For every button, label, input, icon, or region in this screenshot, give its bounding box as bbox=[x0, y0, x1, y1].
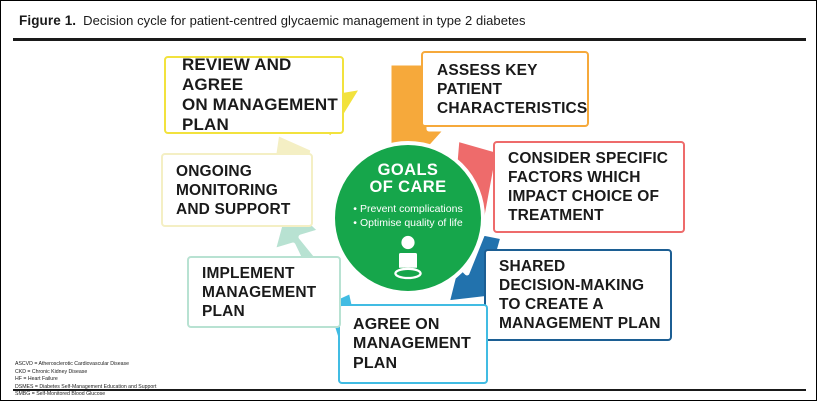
goals-of-care-circle: GOALS OF CARE •Prevent complications •Op… bbox=[331, 141, 485, 295]
goals-title: GOALS OF CARE bbox=[335, 145, 481, 196]
person-icon bbox=[391, 234, 425, 280]
box-consider-specific-factors[interactable]: CONSIDER SPECIFIC FACTORS WHICH IMPACT C… bbox=[493, 141, 685, 233]
box-shared-decision-making[interactable]: SHARED DECISION-MAKING TO CREATE A MANAG… bbox=[484, 249, 672, 341]
figure-number: Figure 1. bbox=[19, 13, 76, 28]
abbreviation-line: DSMES = Diabetes Self-Management Educati… bbox=[15, 384, 255, 392]
box-label: CONSIDER SPECIFIC FACTORS WHICH IMPACT C… bbox=[508, 149, 668, 225]
goals-bullet-text: Prevent complications bbox=[360, 203, 463, 215]
box-ongoing-monitoring-and-support[interactable]: ONGOING MONITORING AND SUPPORT bbox=[161, 153, 313, 227]
goals-bullet-item: •Optimise quality of life bbox=[353, 217, 462, 231]
goals-bullets: •Prevent complications •Optimise quality… bbox=[353, 203, 462, 230]
figure-header: Figure 1.Decision cycle for patient-cent… bbox=[1, 1, 817, 39]
box-label: REVIEW AND AGREE ON MANAGEMENT PLAN bbox=[182, 55, 342, 135]
bullet-dot-icon: • bbox=[353, 203, 357, 215]
abbreviation-line: HF = Heart Failure bbox=[15, 376, 255, 384]
abbreviation-line: ASCVD = Atherosclerotic Cardiovascular D… bbox=[15, 361, 255, 369]
decision-cycle-diagram: GOALS OF CARE •Prevent complications •Op… bbox=[1, 41, 817, 389]
box-label: AGREE ON MANAGEMENT PLAN bbox=[353, 315, 471, 374]
box-label: IMPLEMENT MANAGEMENT PLAN bbox=[202, 264, 316, 321]
box-label: ASSESS KEY PATIENT CHARACTERISTICS bbox=[437, 61, 587, 118]
box-agree-on-management-plan[interactable]: AGREE ON MANAGEMENT PLAN bbox=[338, 304, 488, 384]
footnotes: ASCVD = Atherosclerotic Cardiovascular D… bbox=[15, 361, 255, 401]
box-label: ONGOING MONITORING AND SUPPORT bbox=[176, 162, 290, 219]
box-implement-management-plan[interactable]: IMPLEMENT MANAGEMENT PLAN bbox=[187, 256, 341, 328]
figure-panel: Figure 1.Decision cycle for patient-cent… bbox=[0, 0, 817, 401]
box-review-and-agree-on-management-plan[interactable]: REVIEW AND AGREE ON MANAGEMENT PLAN bbox=[164, 56, 344, 134]
goals-bullet-item: •Prevent complications bbox=[353, 203, 462, 217]
figure-caption: Decision cycle for patient-centred glyca… bbox=[83, 13, 525, 28]
goals-bullet-text: Optimise quality of life bbox=[360, 217, 463, 229]
bullet-dot-icon: • bbox=[353, 217, 357, 229]
box-assess-key-patient-characteristics[interactable]: ASSESS KEY PATIENT CHARACTERISTICS bbox=[421, 51, 589, 127]
abbreviation-line: CKD = Chronic Kidney Disease bbox=[15, 369, 255, 377]
abbreviation-line: SMBG = Self-Monitored Blood Glucose bbox=[15, 391, 255, 399]
box-label: SHARED DECISION-MAKING TO CREATE A MANAG… bbox=[499, 257, 661, 333]
